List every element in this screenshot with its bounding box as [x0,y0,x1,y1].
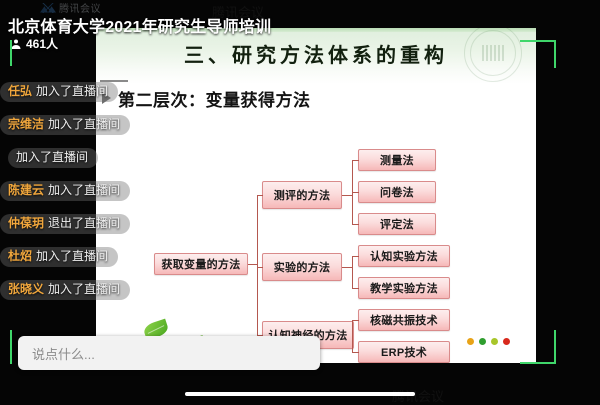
mindmap-root-node: 获取变量的方法 [154,253,248,275]
connector-b0-c1 [352,192,359,193]
mindmap: 获取变量的方法 测评的方法 实验的方法 认知神经的方法 测量法 问卷法 评定法 … [96,108,536,353]
mindmap-leaf-node-0-2: 评定法 [358,213,436,235]
mindmap-leaf-node-2-1: ERP技术 [358,341,450,363]
chat-message-author: 仲葆玥 [8,216,44,231]
indicator-dot-4[interactable] [503,338,510,345]
mindmap-branch-node-0: 测评的方法 [262,181,342,209]
indicator-dot-2[interactable] [479,338,486,345]
chat-message-author: 张晓义 [8,282,44,297]
mindmap-leaf-node-0-0: 测量法 [358,149,436,171]
chat-message-text: 加入了直播间 [16,150,88,165]
chat-message-author: 陈建云 [8,183,44,198]
chat-message-author: 任弘 [8,84,32,99]
home-indicator [185,392,415,396]
tencent-meeting-logo [40,3,56,13]
shared-slide[interactable]: 三、研究方法体系的重构 第二层次：变量获得方法 获取变量的方法 测评的方法 实验… [96,28,536,363]
slide-page-indicator[interactable] [467,338,510,345]
subtitle-rule [100,80,128,82]
chat-input-placeholder: 说点什么... [32,344,95,363]
chat-message-author: 宗维洁 [8,117,44,132]
mindmap-leaf-node-2-0: 核磁共振技术 [358,309,450,331]
participant-count-badge[interactable]: 461人 [10,35,58,52]
connector-b0-c2 [352,224,359,225]
person-icon [10,38,22,50]
connector-b1-spine [352,256,353,288]
connector-b1-c1 [352,288,359,289]
connector-b2-c0 [352,320,359,321]
connector-b2-c1 [352,352,359,353]
page-title: 北京体育大学2021年研究生导师培训 [8,13,271,37]
subtitle-bullet-icon [102,92,111,104]
mindmap-leaf-node-1-0: 认知实验方法 [358,245,450,267]
chat-input[interactable]: 说点什么... [18,336,320,370]
connector-branch-0 [257,195,263,196]
connector-branch-1 [257,267,263,268]
chat-message: 加入了直播间 [8,148,98,168]
connector-b2-spine [352,320,353,352]
mindmap-leaf-node-0-1: 问卷法 [358,181,436,203]
connector-b0-c0 [352,160,359,161]
indicator-dot-3[interactable] [491,338,498,345]
connector-b1-c0 [352,256,359,257]
connector-spine [257,195,258,335]
connector-b1-out [342,267,352,268]
mindmap-leaf-node-1-1: 教学实验方法 [358,277,450,299]
chat-message-author: 杜炤 [8,249,32,264]
connector-b0-out [342,195,352,196]
mindmap-branch-node-1: 实验的方法 [262,253,342,281]
participant-count-label: 461人 [26,35,58,52]
indicator-dot-1[interactable] [467,338,474,345]
meeting-live-screen: 腾讯会议 腾讯会议 腾讯会议 三、研究方法体系的重构 第二层次：变量获得方法 获… [0,0,600,405]
